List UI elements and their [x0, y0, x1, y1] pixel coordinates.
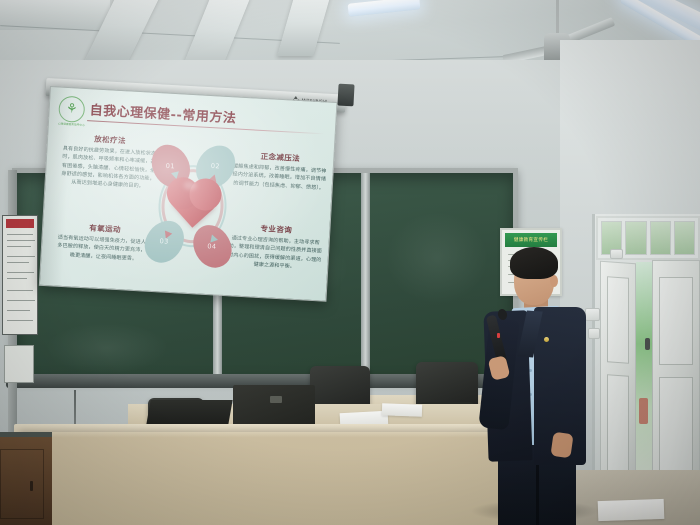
poster-text-line [7, 240, 35, 241]
transom-pane [625, 221, 646, 255]
section-body-02: 缓解焦虑和抑郁，改善慢性疼痛，调节神经内分泌系统，改善睡眠，增加不良情绪的调节能… [232, 162, 327, 192]
section-body-03: 适当有氧运动可以增强免疫力，促进人体多巴胺的释放，使白天的精力更充沛，夜晚更清醒… [55, 234, 152, 264]
chalk-smudge [387, 213, 487, 303]
ceiling-fan-rod [556, 0, 559, 36]
poster-text-line [7, 290, 33, 291]
door-panel [607, 276, 629, 364]
poster-text-line [7, 262, 29, 263]
poster-header-text: 健康教育宣传栏 [514, 237, 548, 243]
presenter-hand-in-pocket [550, 432, 573, 459]
door-handle[interactable] [645, 338, 650, 350]
door-leaf-left[interactable] [600, 261, 636, 498]
monitor-label [270, 396, 282, 403]
door-leaf-right[interactable] [652, 260, 700, 490]
door-panel [607, 374, 629, 476]
poster-text-line [7, 256, 35, 257]
projection-screen: ⚘ 心理健康教育指导中心 自我心理保健--常用方法 放松疗法 具有良好的抗疲劳效… [39, 86, 338, 302]
classroom-scene: 健康教育宣传栏 MITSUBISHI [0, 0, 700, 525]
screen-mount-bracket [337, 84, 354, 107]
presenter [478, 245, 598, 525]
poster-text-line [7, 300, 35, 301]
cabinet-door[interactable] [0, 449, 44, 519]
transom-pane [650, 221, 671, 255]
logo-caption: 心理健康教育指导中心 [58, 122, 84, 127]
poster-text-line [7, 310, 30, 311]
chalk-smudge [47, 323, 167, 373]
trouser-seam [536, 459, 539, 525]
poster-text-line [7, 246, 31, 247]
door-panel [659, 277, 693, 365]
poster-text-line [7, 278, 27, 279]
paper-sheet [598, 499, 665, 521]
transom-pane [674, 221, 695, 255]
organization-logo: ⚘ [58, 96, 85, 123]
podium-desk [20, 432, 520, 525]
petal-cycle-diagram: 01 02 03 04 [144, 129, 240, 286]
poster-text-line [7, 234, 33, 235]
cabinet-handle[interactable] [30, 481, 33, 491]
lapel-pin-icon [544, 337, 549, 342]
door-opening [636, 262, 653, 496]
petal-number-03: 03 [160, 237, 170, 245]
presenter-hair [510, 247, 558, 279]
paper-sheet [382, 403, 422, 416]
poster-text-line [7, 272, 34, 273]
section-body-01: 具有良好的抗疲劳效果，在进入放松状态时，肌肉放松、呼吸频率和心率减缓，并有困倦感… [59, 145, 157, 192]
wall-notice-poster-secondary [4, 345, 34, 383]
presenter-ear [550, 275, 558, 287]
petal-number-02: 02 [211, 162, 221, 170]
section-body-04: 通过专业心理咨询的帮助，主动寻求帮助，整理和理清自己问题的性质并直接面对内心的困… [227, 234, 323, 272]
door-panel [659, 377, 693, 473]
poster-header-band [6, 219, 34, 228]
wall-socket-plate[interactable] [610, 249, 623, 259]
wooden-cabinet[interactable] [0, 432, 52, 525]
outside-object [639, 398, 648, 424]
poster-text-line [7, 320, 33, 321]
microphone-led-indicator [497, 333, 500, 338]
blackboard-divider [361, 173, 370, 375]
wall-notice-poster [2, 215, 38, 335]
logo-figure-icon: ⚘ [66, 102, 78, 116]
